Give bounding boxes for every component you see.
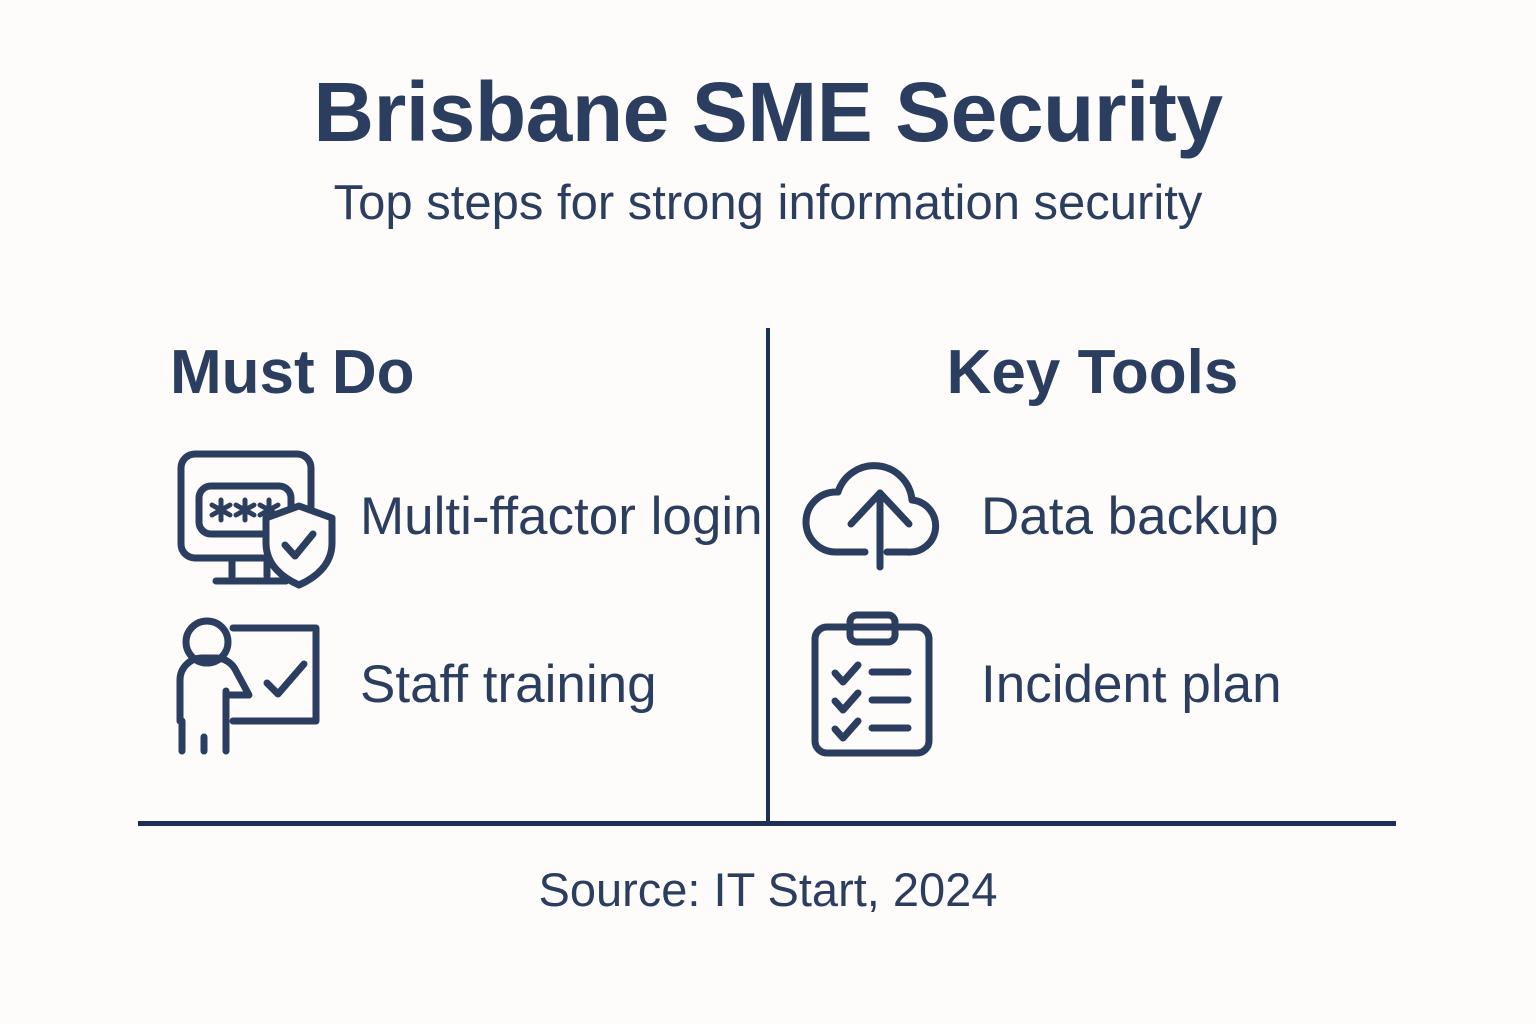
list-item-staff-training: Staff training [170,610,767,760]
clipboard-checklist-icon [799,610,959,760]
horizontal-divider [138,821,1396,826]
list-item-multi-factor-login: Multi-ffactor login [170,442,767,592]
must-do-item-list: Multi-ffactor login [170,442,767,760]
page-title: Brisbane SME Security [0,70,1536,156]
vertical-divider [766,328,770,825]
key-tools-item-list: Data backup [799,442,1396,760]
list-item-label-data-backup: Data backup [981,487,1279,547]
list-item-data-backup: Data backup [799,442,1396,592]
monitor-password-shield-icon [170,442,338,592]
column-heading-key-tools: Key Tools [799,342,1396,404]
list-item-label-staff-training: Staff training [360,655,657,715]
column-heading-must-do: Must Do [170,342,767,404]
list-item-incident-plan: Incident plan [799,610,1396,760]
column-must-do: Must Do [138,328,767,823]
instructor-whiteboard-icon [170,610,338,760]
column-key-tools: Key Tools Data backup [767,328,1396,823]
list-item-label-multi-factor-login: Multi-ffactor login [360,487,763,547]
infographic-canvas: Brisbane SME Security Top steps for stro… [0,0,1536,1024]
page-subtitle: Top steps for strong information securit… [0,178,1536,229]
cloud-upload-icon [799,442,959,592]
source-citation: Source: IT Start, 2024 [0,862,1536,917]
list-item-label-incident-plan: Incident plan [981,655,1282,715]
header: Brisbane SME Security Top steps for stro… [0,70,1536,229]
footer: Source: IT Start, 2024 [0,862,1536,917]
